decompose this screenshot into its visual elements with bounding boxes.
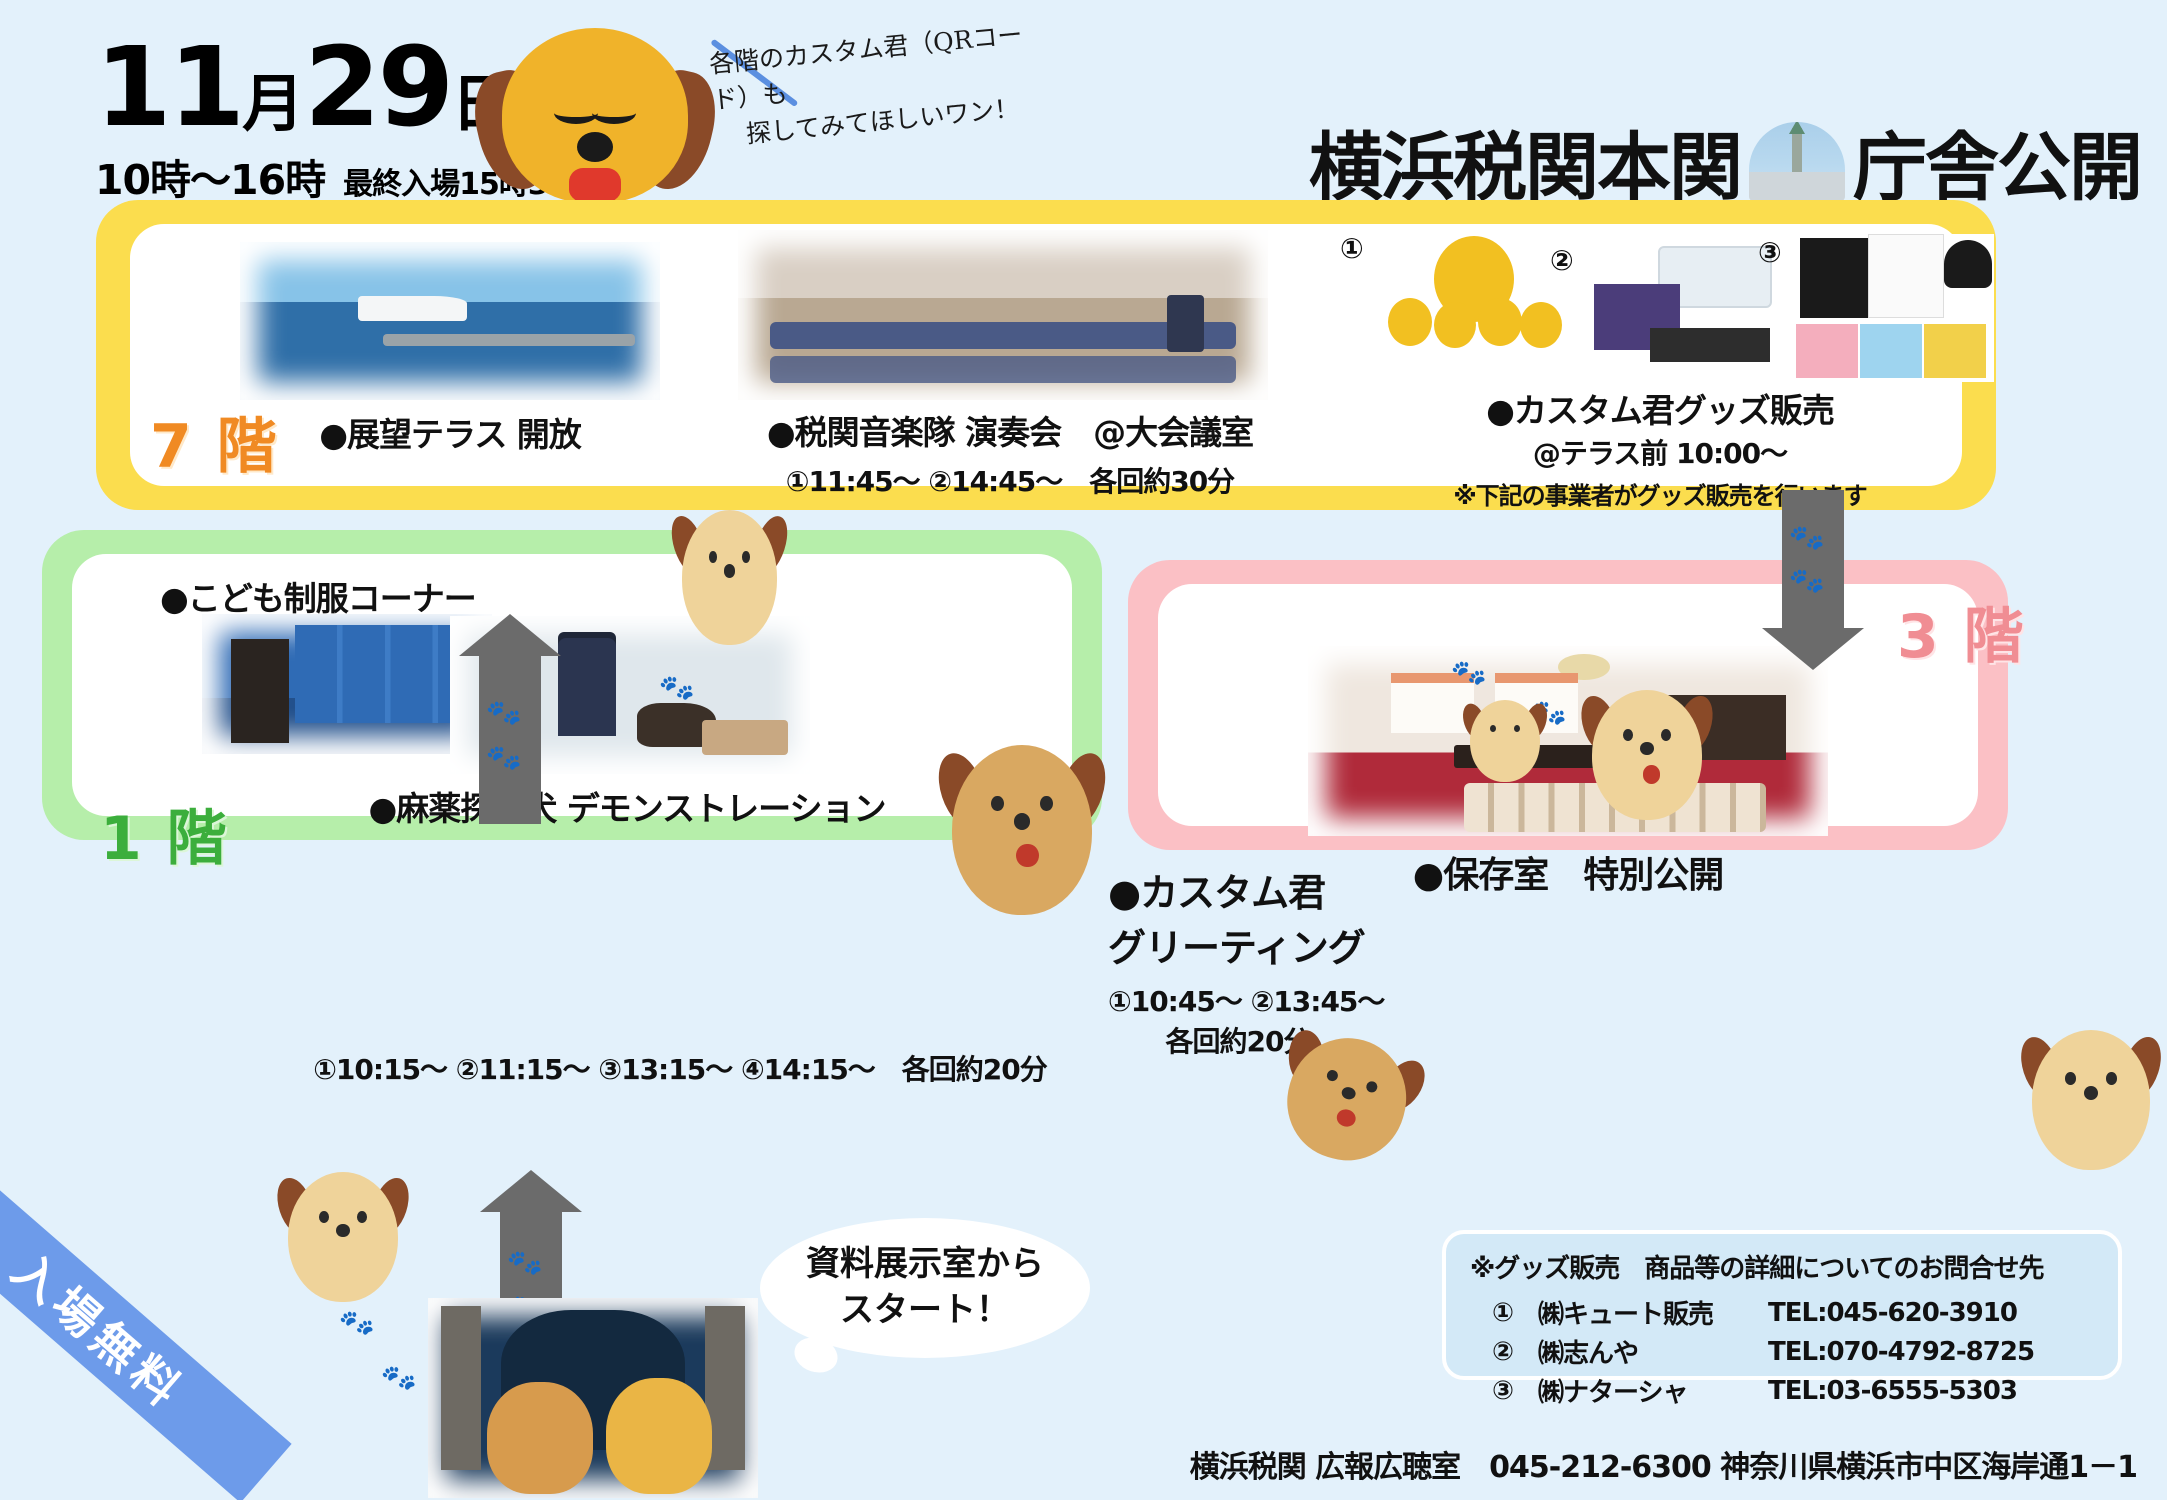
table-row: ③ ㈱ナターシャ TEL:03-6555-5303 bbox=[1492, 1371, 2034, 1410]
customs-band-photo bbox=[738, 230, 1268, 400]
goods-photo-1 bbox=[1380, 228, 1570, 378]
arrow-up-head-2-icon bbox=[480, 1170, 582, 1212]
preservation-room-caption: ●保存室 特別公開 bbox=[1218, 846, 1918, 898]
plush-small-4-icon bbox=[1520, 302, 1562, 348]
plush-nose-icon bbox=[336, 1224, 349, 1237]
mascot-face-icon bbox=[502, 28, 688, 203]
event-month-unit: 月 bbox=[242, 75, 304, 140]
arrow-down-head-icon bbox=[1762, 628, 1864, 670]
paw-print-icon: 🐾 bbox=[379, 1361, 418, 1395]
contact-mark: ① bbox=[1492, 1293, 1538, 1332]
mascot-head-icon bbox=[480, 18, 710, 213]
towel-blue-icon bbox=[1860, 324, 1922, 378]
paw-print-icon: 🐾 bbox=[505, 1246, 544, 1280]
event-time-range: 10時～16時 bbox=[95, 146, 325, 206]
visitor-silhouette-icon bbox=[231, 639, 289, 743]
floor7-label: 7 階 bbox=[150, 398, 279, 485]
paw-print-icon: 🐾 bbox=[1787, 521, 1826, 555]
free-admission-ribbon: 入場無料 bbox=[0, 1155, 292, 1500]
plush-mascot-greeting bbox=[952, 745, 1092, 915]
cap-icon bbox=[1944, 240, 1992, 288]
goods-contact-table: ① ㈱キュート販売 TEL:045-620-3910 ② ㈱志んや TEL:07… bbox=[1492, 1293, 2034, 1410]
plush-mascot-7f bbox=[682, 510, 777, 645]
plush-small-2-icon bbox=[1434, 302, 1476, 348]
plush-mascot-3f bbox=[1592, 690, 1702, 820]
contact-tel: TEL:045-620-3910 bbox=[1768, 1293, 2034, 1332]
band-caption: ●税関音楽隊 演奏会 @大会議室 ①11:45～ ②14:45～ 各回約30分 bbox=[690, 406, 1330, 500]
plush-body-icon bbox=[288, 1172, 398, 1302]
greeting-times-text: ①10:45～ ②13:45～ bbox=[1108, 980, 1384, 1020]
band-times-text: ①11:45～ ②14:45～ 各回約30分 bbox=[690, 460, 1330, 500]
plush-eye-left-icon bbox=[991, 796, 1004, 811]
mascot-eye-right-icon bbox=[592, 102, 636, 124]
contact-name: ㈱キュート販売 bbox=[1538, 1293, 1768, 1332]
plush-eye-right-icon bbox=[1661, 729, 1671, 741]
plush-body-icon bbox=[682, 510, 777, 645]
plush-eye-left-icon bbox=[1623, 729, 1633, 741]
snack-pack-icon bbox=[1650, 328, 1770, 362]
goods-photo-2 bbox=[1588, 242, 1778, 382]
start-here-line1: 資料展示室から bbox=[806, 1242, 1044, 1288]
plush-small-3-icon bbox=[1478, 298, 1522, 346]
floor3-content: ●保存室 特別公開 bbox=[1158, 584, 1978, 826]
plush-body-icon bbox=[1592, 690, 1702, 820]
mascot-nose-icon bbox=[577, 132, 613, 162]
kids-uniform-caption-text: ●こども制服コーナー bbox=[160, 572, 476, 620]
kids-uniform-photo bbox=[202, 614, 492, 754]
plush-nose-icon bbox=[2084, 1086, 2098, 1100]
plush-eye-right-icon bbox=[2106, 1072, 2117, 1085]
entrance-column-left-icon bbox=[441, 1306, 481, 1470]
poster-canvas: 11 月 29 日 （土） 10時～16時 最終入場15時30分 各階のカスタム… bbox=[0, 0, 2167, 1500]
drug-dog-times: ①10:15～ ②11:15～ ③13:15～ ④14:15～ 各回約20分 bbox=[230, 1048, 1130, 1088]
tshirt-black-icon bbox=[1800, 238, 1872, 318]
goods-place-text: @テラス前 10:00～ bbox=[1360, 432, 1960, 472]
arrow-down-to-floor3 bbox=[1782, 490, 1844, 630]
goods-contact-box: ※グッズ販売 商品等の詳細についてのお問合せ先 ① ㈱キュート販売 TEL:04… bbox=[1442, 1230, 2122, 1380]
entrance-photo bbox=[428, 1298, 758, 1498]
preservation-room-caption-text: ●保存室 特別公開 bbox=[1218, 846, 1918, 898]
paw-print-icon: 🐾 bbox=[484, 741, 523, 775]
goods-note-text: ※下記の事業者がグッズ販売を行います bbox=[1360, 476, 1960, 511]
plush-eye-right-icon bbox=[742, 551, 751, 563]
conductor-icon bbox=[1167, 295, 1204, 353]
event-month-number: 11 bbox=[95, 35, 242, 140]
paw-print-icon: 🐾 bbox=[484, 696, 523, 730]
cruise-ship-icon bbox=[358, 296, 467, 321]
plush-mascot-small-top bbox=[1470, 700, 1540, 782]
plush-eye-right-icon bbox=[1040, 796, 1053, 811]
customs-building-photo bbox=[1749, 122, 1845, 202]
floor7-content: ●展望テラス 開放 ●税関音楽隊 演奏会 @大会議室 ①11:45～ ②14:4… bbox=[130, 224, 1962, 486]
arrow-up-head-icon bbox=[459, 614, 561, 656]
floor1-label: 1 階 bbox=[100, 790, 229, 877]
plush-mascot-lying bbox=[1273, 1024, 1420, 1174]
qr-hand-note: 各階のカスタム君（QRコード）も 探してみてほしいワン！ bbox=[708, 13, 1067, 155]
goods-mark-3: ③ bbox=[1758, 236, 1782, 269]
floor1-content: ●こども制服コーナー ●麻薬探知犬 デモンストレーション bbox=[72, 554, 1072, 816]
building-tower-icon bbox=[1792, 128, 1802, 176]
paw-print-icon: 🐾 bbox=[1449, 656, 1488, 690]
plush-eye-right-icon bbox=[1514, 725, 1520, 732]
plush-badge-icon bbox=[1643, 765, 1661, 783]
plush-nose-icon bbox=[1014, 813, 1031, 830]
goods-caption: ●カスタム君グッズ販売 @テラス前 10:00～ ※下記の事業者がグッズ販売を行… bbox=[1360, 384, 1960, 511]
preservation-room-photo bbox=[1308, 646, 1828, 836]
plush-mascot-bottom-left bbox=[288, 1172, 398, 1302]
table-row: ② ㈱志んや TEL:070-4792-8725 bbox=[1492, 1332, 2034, 1371]
towel-pink-icon bbox=[1796, 324, 1858, 378]
free-admission-label: 入場無料 bbox=[0, 1236, 200, 1422]
plush-eye-left-icon bbox=[2065, 1072, 2076, 1085]
goods-photo-3 bbox=[1794, 234, 1994, 382]
contact-tel: TEL:03-6555-5303 bbox=[1768, 1371, 2034, 1410]
terrace-caption: ●展望テラス 開放 bbox=[240, 408, 660, 456]
plush-eye-right-icon bbox=[357, 1211, 367, 1223]
footer-contact: 横浜税関 広報広聴室 045-212-6300 神奈川県横浜市中区海岸通1－1 bbox=[1190, 1442, 2137, 1486]
page-title: 横浜税関本関 庁舎公開 bbox=[1309, 108, 2141, 215]
plush-body-icon bbox=[2032, 1030, 2150, 1170]
plush-eye-left-icon bbox=[319, 1211, 329, 1223]
paw-print-icon: 🐾 bbox=[1787, 564, 1826, 598]
plush-badge-icon bbox=[1335, 1107, 1358, 1129]
page-title-left: 横浜税関本関 bbox=[1309, 108, 1741, 215]
greeting-caption-line2: グリーティング bbox=[1108, 917, 1384, 972]
plush-small-1-icon bbox=[1388, 298, 1432, 346]
contact-name: ㈱志んや bbox=[1538, 1332, 1768, 1371]
terrace-caption-text: ●展望テラス 開放 bbox=[240, 408, 660, 456]
table-row: ① ㈱キュート販売 TEL:045-620-3910 bbox=[1492, 1293, 2034, 1332]
floor3-panel: ●保存室 特別公開 bbox=[1128, 560, 2008, 850]
band-row-front-icon bbox=[770, 322, 1236, 349]
drug-dog-caption: ●麻薬探知犬 デモンストレーション bbox=[202, 782, 1052, 830]
plush-eye-left-icon bbox=[1490, 725, 1496, 732]
floor3-label: 3 階 bbox=[1897, 588, 2026, 675]
page-title-right: 庁舎公開 bbox=[1853, 108, 2141, 215]
paw-print-icon: 🐾 bbox=[337, 1306, 376, 1340]
start-here-bubble: 資料展示室から スタート！ bbox=[760, 1218, 1090, 1358]
paw-print-icon: 🐾 bbox=[657, 671, 696, 705]
event-day-number: 29 bbox=[304, 35, 451, 140]
drug-dog-times-text: ①10:15～ ②11:15～ ③13:15～ ④14:15～ 各回約20分 bbox=[230, 1048, 1130, 1088]
contact-tel: TEL:070-4792-8725 bbox=[1768, 1332, 2034, 1371]
pier-icon bbox=[383, 334, 635, 347]
building-base-icon bbox=[1749, 172, 1845, 202]
plush-body-icon bbox=[952, 745, 1092, 915]
goods-contact-title: ※グッズ販売 商品等の詳細についてのお問合せ先 bbox=[1470, 1248, 2094, 1285]
costume-mascot-left-icon bbox=[487, 1382, 593, 1494]
contact-name: ㈱ナターシャ bbox=[1538, 1371, 1768, 1410]
plush-body-icon bbox=[1470, 700, 1540, 782]
plush-mascot-right-edge bbox=[2032, 1030, 2150, 1170]
plush-nose-icon bbox=[1640, 742, 1653, 755]
goods-caption-text: ●カスタム君グッズ販売 bbox=[1360, 384, 1960, 432]
goods-mark-1: ① bbox=[1340, 232, 1364, 265]
observation-terrace-photo bbox=[240, 242, 660, 400]
arrow-up-to-floor7 bbox=[479, 654, 541, 824]
plush-nose-icon bbox=[1340, 1085, 1357, 1101]
mascot-mouth-icon bbox=[569, 168, 621, 204]
contact-mark: ③ bbox=[1492, 1371, 1538, 1410]
start-here-line2: スタート！ bbox=[840, 1288, 1010, 1334]
drug-dog-caption-text: ●麻薬探知犬 デモンストレーション bbox=[202, 782, 1052, 830]
band-caption-text: ●税関音楽隊 演奏会 @大会議室 bbox=[690, 406, 1330, 454]
goods-mark-2: ② bbox=[1550, 244, 1574, 277]
plush-eye-right-icon bbox=[1365, 1080, 1378, 1093]
floor7-panel: ●展望テラス 開放 ●税関音楽隊 演奏会 @大会議室 ①11:45～ ②14:4… bbox=[96, 200, 1996, 510]
plush-eye-left-icon bbox=[1326, 1068, 1339, 1081]
plush-eye-left-icon bbox=[709, 551, 718, 563]
kids-uniform-caption: ●こども制服コーナー bbox=[160, 572, 476, 620]
costume-mascot-right-icon bbox=[606, 1378, 712, 1494]
band-row-back-icon bbox=[770, 356, 1236, 383]
luggage-box-icon bbox=[702, 720, 788, 755]
plush-nose-icon bbox=[724, 564, 735, 578]
plush-badge-icon bbox=[1016, 844, 1038, 868]
contact-mark: ② bbox=[1492, 1332, 1538, 1371]
tshirt-white-icon bbox=[1868, 234, 1944, 318]
towel-yellow-icon bbox=[1924, 324, 1986, 378]
customs-officer-icon bbox=[558, 638, 616, 736]
